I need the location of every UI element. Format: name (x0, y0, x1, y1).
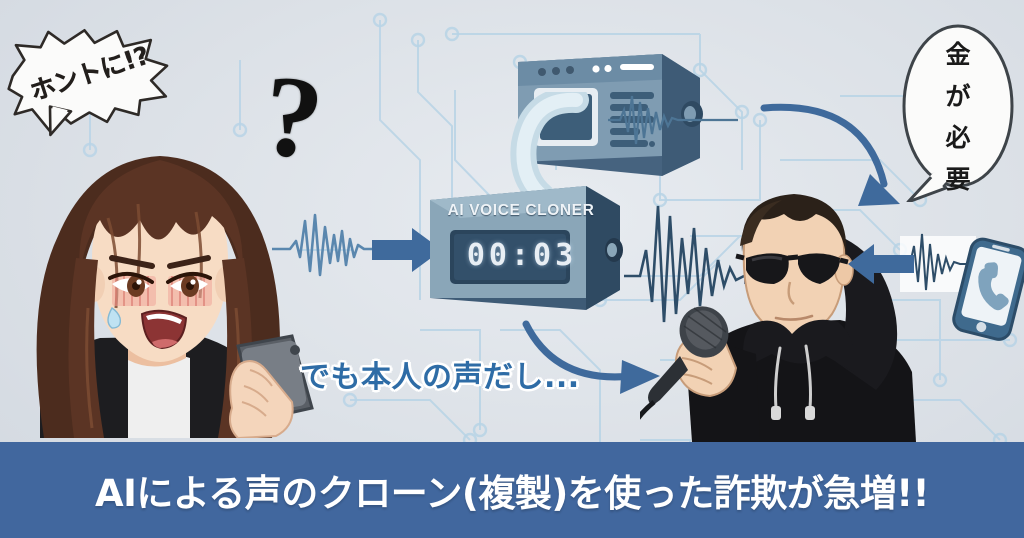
waveform-monitor-out (608, 90, 768, 150)
bubble-right-char-1: が (945, 84, 970, 109)
arrow-phone-to-scammer (846, 242, 916, 286)
speech-bubble-scammer: 金 が 必 要 (900, 22, 1016, 202)
infographic-canvas: ホントに!? ? (0, 0, 1024, 538)
bubble-right-char-3: 要 (945, 167, 970, 192)
cloner-timer-display: 00:03 (452, 238, 592, 273)
bottom-banner: AIによる声のクローン(複製)を使った詐欺が急増!! (0, 442, 1024, 538)
cloner-label: AI VOICE CLONER (441, 202, 601, 220)
question-mark-icon: ? (258, 57, 328, 178)
banner-text: AIによる声のクローン(複製)を使った詐欺が急増!! (95, 463, 929, 517)
caption-middle: でも本人の声だし... (300, 352, 580, 396)
smartphone-icon (900, 232, 1024, 342)
bubble-right-char-2: 必 (945, 125, 970, 150)
bubble-right-text: 金 が 必 要 (900, 42, 1016, 192)
bubble-right-char-0: 金 (945, 42, 970, 67)
